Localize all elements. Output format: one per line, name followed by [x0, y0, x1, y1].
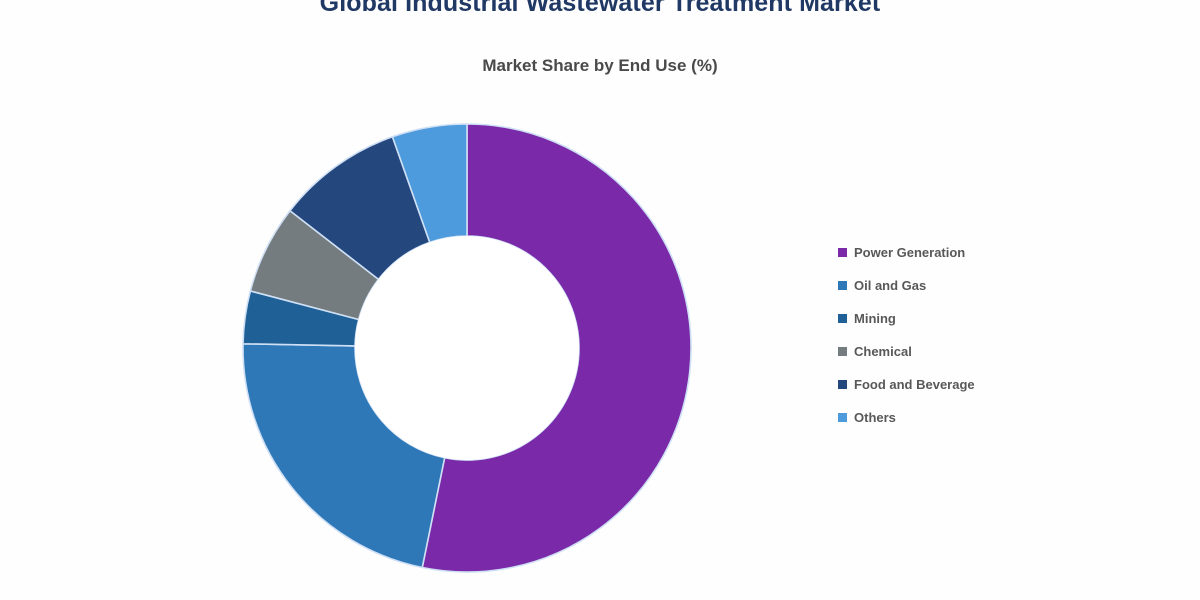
title-block: Global Industrial Wastewater Treatment M… [0, 0, 1200, 18]
legend-item[interactable]: Food and Beverage [838, 368, 1068, 401]
legend-item-label: Mining [854, 311, 896, 327]
chart-legend: Power Generation Oil and Gas Mining Chem… [838, 236, 1068, 434]
chart-title: Global Industrial Wastewater Treatment M… [0, 0, 1200, 18]
donut-chart-svg [242, 123, 692, 573]
legend-item-label: Others [854, 410, 896, 426]
chart-container: Global Industrial Wastewater Treatment M… [0, 0, 1200, 600]
legend-swatch-icon [838, 380, 847, 389]
legend-swatch-icon [838, 281, 847, 290]
legend-item[interactable]: Mining [838, 302, 1068, 335]
legend-item-label: Food and Beverage [854, 377, 975, 393]
legend-item-label: Chemical [854, 344, 912, 360]
legend-swatch-icon [838, 248, 847, 257]
legend-swatch-icon [838, 347, 847, 356]
legend-item-label: Oil and Gas [854, 278, 926, 294]
legend-item[interactable]: Oil and Gas [838, 269, 1068, 302]
chart-subtitle: Market Share by End Use (%) [0, 55, 1200, 77]
legend-item[interactable]: Chemical [838, 335, 1068, 368]
legend-item[interactable]: Others [838, 401, 1068, 434]
legend-swatch-icon [838, 413, 847, 422]
legend-swatch-icon [838, 314, 847, 323]
donut-center-hole [355, 236, 579, 460]
donut-chart [242, 123, 692, 573]
legend-item-label: Power Generation [854, 245, 965, 261]
legend-item[interactable]: Power Generation [838, 236, 1068, 269]
